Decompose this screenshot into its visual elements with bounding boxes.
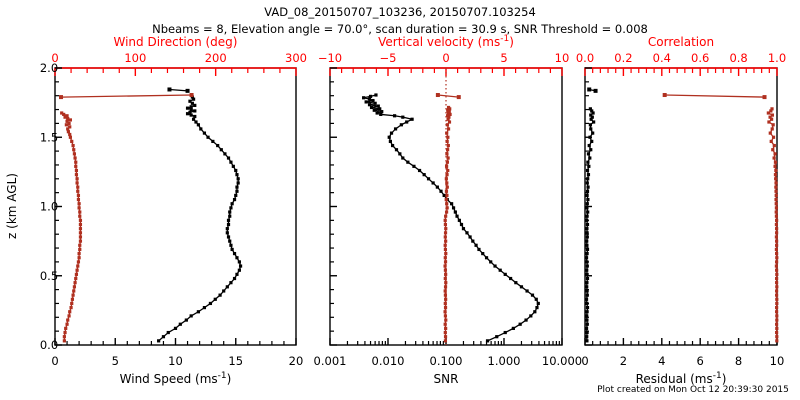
data-point xyxy=(460,223,463,226)
data-point xyxy=(452,206,455,209)
data-point xyxy=(773,144,776,147)
data-point xyxy=(586,202,589,205)
data-point xyxy=(446,148,449,151)
data-point xyxy=(234,169,237,172)
data-point xyxy=(586,273,589,276)
data-point xyxy=(586,194,589,197)
data-point xyxy=(775,289,778,292)
ytick-label: 0.5 xyxy=(40,269,58,283)
data-point xyxy=(179,323,182,326)
panel-2-xtick-label: 10.000 xyxy=(542,354,582,368)
data-point xyxy=(443,310,446,313)
data-point xyxy=(203,132,206,135)
data-point xyxy=(239,264,242,267)
data-point xyxy=(493,264,496,267)
data-point xyxy=(76,190,79,193)
data-point xyxy=(591,132,594,135)
data-point xyxy=(586,306,589,309)
data-point xyxy=(436,186,439,189)
data-point xyxy=(78,210,81,213)
data-point xyxy=(499,269,502,272)
panel-3-xtick-label: 4 xyxy=(658,354,665,368)
data-point xyxy=(485,256,488,259)
data-point xyxy=(444,323,447,326)
data-point xyxy=(391,144,394,147)
panel-1-xtick-label: 5 xyxy=(112,354,119,368)
data-point xyxy=(423,173,426,176)
data-point xyxy=(72,148,75,151)
data-point xyxy=(775,244,778,247)
data-point xyxy=(775,310,778,313)
panel-2-top-axis-label: Vertical velocity (ms-1) xyxy=(378,34,514,49)
data-point xyxy=(234,194,237,197)
data-point xyxy=(214,298,217,301)
data-point xyxy=(774,161,777,164)
data-point xyxy=(71,144,74,147)
data-point xyxy=(586,331,589,334)
data-point xyxy=(445,181,448,184)
data-point xyxy=(395,148,398,151)
data-point xyxy=(446,140,449,143)
data-point xyxy=(228,240,231,243)
data-point xyxy=(775,264,778,267)
data-point xyxy=(368,98,371,101)
data-point xyxy=(445,165,448,168)
data-point xyxy=(495,335,498,338)
panel-1-xtick-label: 10 xyxy=(168,354,183,368)
data-point xyxy=(194,120,197,123)
panel-3-top-axis-label: Correlation xyxy=(648,35,714,49)
data-point xyxy=(771,113,774,116)
data-point xyxy=(585,219,588,222)
data-point xyxy=(235,186,238,189)
data-point xyxy=(374,102,377,105)
data-point xyxy=(444,281,447,284)
data-point xyxy=(373,109,376,112)
data-point xyxy=(444,335,447,338)
data-point-outlier xyxy=(457,95,461,99)
data-point xyxy=(216,144,219,147)
data-point xyxy=(586,215,589,218)
data-point xyxy=(393,114,396,117)
data-point xyxy=(75,273,78,276)
data-point xyxy=(192,118,195,121)
data-point xyxy=(586,169,589,172)
data-point xyxy=(238,269,241,272)
data-point xyxy=(586,198,589,201)
data-point xyxy=(586,223,589,226)
data-point xyxy=(585,269,588,272)
data-point xyxy=(233,252,236,255)
data-point xyxy=(519,323,522,326)
data-point xyxy=(775,306,778,309)
data-point xyxy=(587,165,590,168)
data-point xyxy=(775,223,778,226)
data-point xyxy=(775,277,778,280)
data-point xyxy=(206,136,209,139)
data-point xyxy=(775,202,778,205)
data-point xyxy=(446,169,449,172)
data-point-outlier xyxy=(594,89,598,93)
data-point xyxy=(68,310,71,313)
data-point xyxy=(445,210,448,213)
data-point xyxy=(767,120,770,123)
panel-1-bottom-axis-label: Wind Speed (ms-1) xyxy=(120,371,232,386)
data-point xyxy=(78,206,81,209)
data-point xyxy=(585,206,588,209)
data-point xyxy=(78,215,81,218)
data-point xyxy=(446,206,449,209)
data-point xyxy=(444,231,447,234)
data-point xyxy=(504,331,507,334)
data-point xyxy=(229,244,232,247)
data-point-outlier xyxy=(59,95,63,99)
data-point xyxy=(775,260,778,263)
data-point xyxy=(68,125,71,128)
data-point xyxy=(190,105,193,108)
panel-1-xtick-label: 15 xyxy=(228,354,243,368)
data-point xyxy=(444,240,447,243)
data-point xyxy=(77,260,80,263)
data-point xyxy=(218,294,221,297)
data-point xyxy=(455,215,458,218)
panel-2-top-xtick-label: 5 xyxy=(500,51,507,65)
data-point xyxy=(525,289,528,292)
panel-3-xtick-label: 6 xyxy=(697,354,704,368)
data-point xyxy=(586,210,589,213)
data-point xyxy=(445,173,448,176)
data-point xyxy=(67,314,70,317)
data-point xyxy=(406,161,409,164)
data-point xyxy=(78,248,81,251)
data-point xyxy=(78,202,81,205)
data-point xyxy=(388,136,391,139)
data-point xyxy=(167,331,170,334)
data-point xyxy=(190,314,193,317)
panel-3-xtick-label: 0 xyxy=(581,354,588,368)
data-point xyxy=(444,235,447,238)
data-point xyxy=(223,152,226,155)
panel-2-top-xtick-label: 0 xyxy=(442,51,449,65)
data-point xyxy=(587,173,590,176)
data-point xyxy=(362,96,365,99)
data-point xyxy=(197,310,200,313)
data-point xyxy=(401,116,404,119)
data-point xyxy=(775,210,778,213)
data-point xyxy=(481,252,484,255)
data-point xyxy=(444,215,447,218)
data-point xyxy=(229,206,232,209)
data-point xyxy=(368,103,371,106)
data-point xyxy=(445,202,448,205)
data-point xyxy=(775,331,778,334)
data-point xyxy=(586,190,589,193)
panel-3-top-xtick-label: 0.8 xyxy=(729,51,747,65)
data-point xyxy=(586,186,589,189)
data-point xyxy=(444,256,447,259)
data-point xyxy=(220,148,223,151)
data-point xyxy=(378,107,381,110)
data-point xyxy=(227,219,230,222)
data-point xyxy=(63,331,66,334)
data-point xyxy=(211,140,214,143)
data-point xyxy=(379,113,382,116)
data-point xyxy=(71,294,74,297)
data-point xyxy=(222,289,225,292)
data-point xyxy=(443,194,446,197)
ytick-label: 1.0 xyxy=(40,200,58,214)
data-point xyxy=(773,152,776,155)
data-point xyxy=(775,248,778,251)
data-point xyxy=(585,281,588,284)
panel-3-top-xtick-label: 0.4 xyxy=(653,51,671,65)
data-point xyxy=(585,302,588,305)
data-point xyxy=(775,314,778,317)
data-point xyxy=(586,310,589,313)
data-point xyxy=(537,302,540,305)
data-point xyxy=(377,104,380,107)
data-point xyxy=(446,123,449,126)
panel-2-top-xtick-label: −5 xyxy=(380,51,397,65)
data-point-outlier xyxy=(663,93,667,97)
figure-title: VAD_08_20150707_103236, 20150707.103254 xyxy=(264,5,536,19)
data-point xyxy=(586,289,589,292)
data-point xyxy=(444,302,447,305)
data-point xyxy=(444,339,447,342)
data-point xyxy=(237,177,240,180)
data-point xyxy=(509,277,512,280)
data-point xyxy=(227,223,230,226)
data-point xyxy=(227,156,230,159)
data-point xyxy=(458,219,461,222)
data-point xyxy=(193,109,196,112)
data-point xyxy=(774,169,777,172)
data-point xyxy=(444,248,447,251)
data-point xyxy=(427,177,430,180)
data-point xyxy=(444,294,447,297)
data-point xyxy=(775,281,778,284)
data-point xyxy=(439,190,442,193)
data-point xyxy=(73,152,76,155)
panel-2-xtick-label: 0.010 xyxy=(372,354,405,368)
data-point xyxy=(589,123,592,126)
data-point xyxy=(590,140,593,143)
data-point xyxy=(65,323,68,326)
data-point xyxy=(400,123,403,126)
data-point xyxy=(70,302,73,305)
data-point xyxy=(585,256,588,259)
data-point xyxy=(769,132,772,135)
data-point xyxy=(450,202,453,205)
data-point xyxy=(77,198,80,201)
data-point xyxy=(186,107,189,110)
panel-3-top-xtick-label: 0.2 xyxy=(614,51,632,65)
data-point xyxy=(520,285,523,288)
data-point xyxy=(235,173,238,176)
panel-1-top-xtick-label: 200 xyxy=(205,51,227,65)
data-point xyxy=(585,298,588,301)
data-point xyxy=(775,273,778,276)
data-point xyxy=(418,169,421,172)
data-point xyxy=(535,306,538,309)
data-point xyxy=(448,120,451,123)
ytick-label: 2.0 xyxy=(40,61,58,75)
data-point xyxy=(586,264,589,267)
panel-2-xtick-label: 0.001 xyxy=(314,354,347,368)
panel-1-top-xtick-label: 100 xyxy=(124,51,146,65)
data-point xyxy=(447,144,450,147)
data-point xyxy=(444,227,447,230)
data-point xyxy=(770,107,773,110)
data-point xyxy=(209,302,212,305)
data-point xyxy=(65,114,68,117)
data-point xyxy=(76,264,79,267)
data-point xyxy=(586,252,589,255)
data-point-outlier xyxy=(587,87,591,91)
data-point-outlier xyxy=(436,93,440,97)
data-point xyxy=(775,323,778,326)
data-point xyxy=(374,93,377,96)
data-point xyxy=(235,256,238,259)
data-point xyxy=(444,269,447,272)
data-point xyxy=(75,173,78,176)
data-point xyxy=(775,231,778,234)
data-point xyxy=(75,177,78,180)
panel-1-top-xtick-label: 300 xyxy=(285,51,307,65)
data-point xyxy=(74,165,77,168)
data-point xyxy=(592,120,595,123)
data-point xyxy=(444,318,447,321)
data-point xyxy=(79,223,82,226)
data-point xyxy=(70,140,73,143)
data-point xyxy=(775,318,778,321)
data-point xyxy=(774,198,777,201)
data-point xyxy=(444,298,447,301)
data-point xyxy=(772,123,775,126)
data-point xyxy=(775,339,778,342)
data-point xyxy=(73,285,76,288)
panel-2-xtick-label: 0.100 xyxy=(430,354,463,368)
data-point xyxy=(199,127,202,130)
data-point xyxy=(188,100,191,103)
data-point-outlier xyxy=(186,89,190,93)
panel-3-xtick-label: 2 xyxy=(620,354,627,368)
data-point xyxy=(774,173,777,176)
data-point xyxy=(462,227,465,230)
data-point xyxy=(79,219,82,222)
data-point xyxy=(586,231,589,234)
data-point xyxy=(773,165,776,168)
data-point xyxy=(380,110,383,113)
panel-3-top-xtick-label: 0.6 xyxy=(691,51,709,65)
data-point xyxy=(444,219,447,222)
figure-background xyxy=(0,0,800,400)
data-point xyxy=(443,264,446,267)
data-point xyxy=(504,273,507,276)
data-point xyxy=(174,327,177,330)
data-point xyxy=(190,113,193,116)
data-point xyxy=(589,127,592,130)
y-axis-label: z (km AGL) xyxy=(5,173,19,239)
panel-2-top-xtick-label: 10 xyxy=(555,51,570,65)
data-point xyxy=(444,289,447,292)
data-point xyxy=(471,240,474,243)
plot-created-footer: Plot created on Mon Oct 12 20:39:30 2015 xyxy=(597,385,789,395)
data-point xyxy=(238,260,241,263)
data-point xyxy=(371,99,374,102)
data-point xyxy=(72,289,75,292)
data-point xyxy=(444,314,447,317)
data-point xyxy=(432,181,435,184)
data-point xyxy=(585,244,588,247)
data-point xyxy=(389,140,392,143)
data-point xyxy=(775,235,778,238)
data-point xyxy=(185,318,188,321)
data-point xyxy=(78,252,81,255)
data-point xyxy=(774,190,777,193)
data-point xyxy=(775,335,778,338)
data-point xyxy=(775,194,778,197)
data-point xyxy=(73,156,76,159)
data-point xyxy=(585,260,588,263)
data-point xyxy=(775,206,778,209)
data-point xyxy=(405,120,408,123)
data-point xyxy=(79,240,82,243)
data-point xyxy=(772,136,775,139)
panel-2-top-xtick-label: −10 xyxy=(318,51,342,65)
data-point xyxy=(524,318,527,321)
data-point xyxy=(63,335,66,338)
data-point xyxy=(446,156,449,159)
data-point xyxy=(231,202,234,205)
data-point xyxy=(445,132,448,135)
data-point xyxy=(444,252,447,255)
data-point xyxy=(474,244,477,247)
data-point-outlier xyxy=(763,95,767,99)
data-point xyxy=(444,285,447,288)
data-point xyxy=(586,294,589,297)
data-point xyxy=(390,132,393,135)
data-point xyxy=(68,133,71,136)
data-point xyxy=(587,152,590,155)
data-point xyxy=(188,111,191,114)
data-point xyxy=(233,198,236,201)
data-point xyxy=(446,186,449,189)
data-point xyxy=(226,227,229,230)
ytick-label: 1.5 xyxy=(40,130,58,144)
data-point xyxy=(775,256,778,259)
data-point xyxy=(585,240,588,243)
data-point xyxy=(193,115,196,118)
data-point xyxy=(445,152,448,155)
data-point xyxy=(162,335,165,338)
data-point xyxy=(775,298,778,301)
data-point xyxy=(489,260,492,263)
data-point xyxy=(398,152,401,155)
data-point xyxy=(445,190,448,193)
data-point xyxy=(444,331,447,334)
data-point xyxy=(514,281,517,284)
data-point xyxy=(465,231,468,234)
data-point xyxy=(585,285,588,288)
panel-2-bottom-axis-label: SNR xyxy=(434,372,459,386)
data-point xyxy=(486,339,489,342)
data-point xyxy=(775,285,778,288)
data-point xyxy=(512,327,515,330)
data-point xyxy=(531,294,534,297)
data-point xyxy=(444,306,447,309)
data-point xyxy=(365,100,368,103)
